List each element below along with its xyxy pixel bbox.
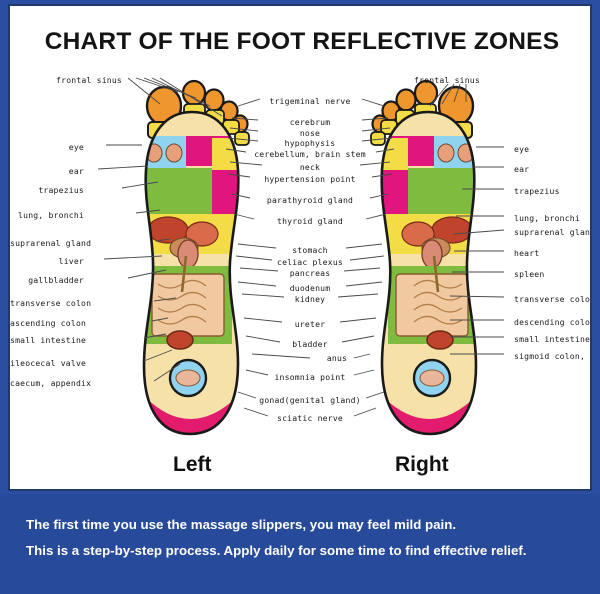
reflex-label[interactable]: frontal sinus: [414, 75, 480, 85]
reflex-label[interactable]: transverse colon: [10, 298, 84, 308]
reflex-label[interactable]: transverse colon: [514, 294, 592, 304]
screenshot-root: CHART OF THE FOOT REFLECTIVE ZONES: [0, 0, 600, 594]
reflex-label[interactable]: lung, bronchi: [10, 210, 84, 220]
reflex-label[interactable]: liver: [10, 256, 84, 266]
caption-line-2: This is a step-by-step process. Apply da…: [26, 542, 574, 559]
reflex-label[interactable]: lung, bronchi: [514, 213, 580, 223]
reflex-label[interactable]: descending colon: [514, 317, 592, 327]
reflex-label[interactable]: trapezius: [10, 185, 84, 195]
reflex-label[interactable]: gallbladder: [10, 275, 84, 285]
reflex-label[interactable]: suprarenal gland: [514, 227, 592, 237]
reflex-label[interactable]: trigeminal nerve: [190, 96, 430, 106]
reflex-label[interactable]: stomach: [190, 245, 430, 255]
reflex-label[interactable]: cerebrum: [190, 117, 430, 127]
reflex-label[interactable]: kidney: [190, 294, 430, 304]
reflex-label[interactable]: frontal sinus: [10, 75, 122, 85]
reflex-label[interactable]: caecum, appendix: [10, 378, 84, 388]
caption-panel: The first time you use the massage slipp…: [0, 494, 600, 594]
reflex-label[interactable]: neck: [190, 162, 430, 172]
reflex-label[interactable]: eye: [514, 144, 529, 154]
caption-line-1: The first time you use the massage slipp…: [26, 516, 574, 533]
reflex-label[interactable]: celiac plexus: [190, 257, 430, 267]
reflex-label[interactable]: hypertension point: [190, 174, 430, 184]
reflex-label[interactable]: eye: [10, 142, 84, 152]
reflex-label[interactable]: insomnia point: [190, 372, 430, 382]
right-foot-caption: Right: [395, 453, 449, 477]
reflex-label[interactable]: trapezius: [514, 186, 560, 196]
reflex-label[interactable]: duodenum: [190, 283, 430, 293]
reflex-label[interactable]: ear: [514, 164, 529, 174]
reflex-label[interactable]: small intestine: [514, 334, 590, 344]
reflex-label[interactable]: spleen: [514, 269, 544, 279]
chart-card: CHART OF THE FOOT REFLECTIVE ZONES: [8, 4, 592, 491]
reflex-label[interactable]: ureter: [190, 319, 430, 329]
reflex-label[interactable]: cerebellum, brain stem: [190, 149, 430, 159]
page-title: CHART OF THE FOOT REFLECTIVE ZONES: [10, 28, 592, 56]
reflex-label[interactable]: thyroid gland: [190, 216, 430, 226]
reflex-label[interactable]: sigmoid colon, rectum: [514, 351, 592, 361]
reflex-label[interactable]: gonad(genital gland): [190, 395, 430, 405]
reflex-label[interactable]: suprarenal gland: [10, 238, 84, 248]
reflex-label[interactable]: nose: [190, 128, 430, 138]
reflex-label[interactable]: anus: [217, 353, 457, 363]
reflex-label[interactable]: ear: [10, 166, 84, 176]
reflex-label[interactable]: hypophysis: [190, 138, 430, 148]
reflex-label[interactable]: pancreas: [190, 268, 430, 278]
reflex-label[interactable]: bladder: [190, 339, 430, 349]
left-foot-caption: Left: [173, 453, 212, 477]
reflex-label[interactable]: small intestine: [10, 335, 84, 345]
reflex-label[interactable]: ileocecal valve: [10, 358, 84, 368]
reflex-label[interactable]: heart: [514, 248, 539, 258]
reflex-label[interactable]: ascending colon: [10, 318, 84, 328]
reflex-label[interactable]: parathyroid gland: [190, 195, 430, 205]
reflex-label[interactable]: sciatic nerve: [190, 413, 430, 423]
